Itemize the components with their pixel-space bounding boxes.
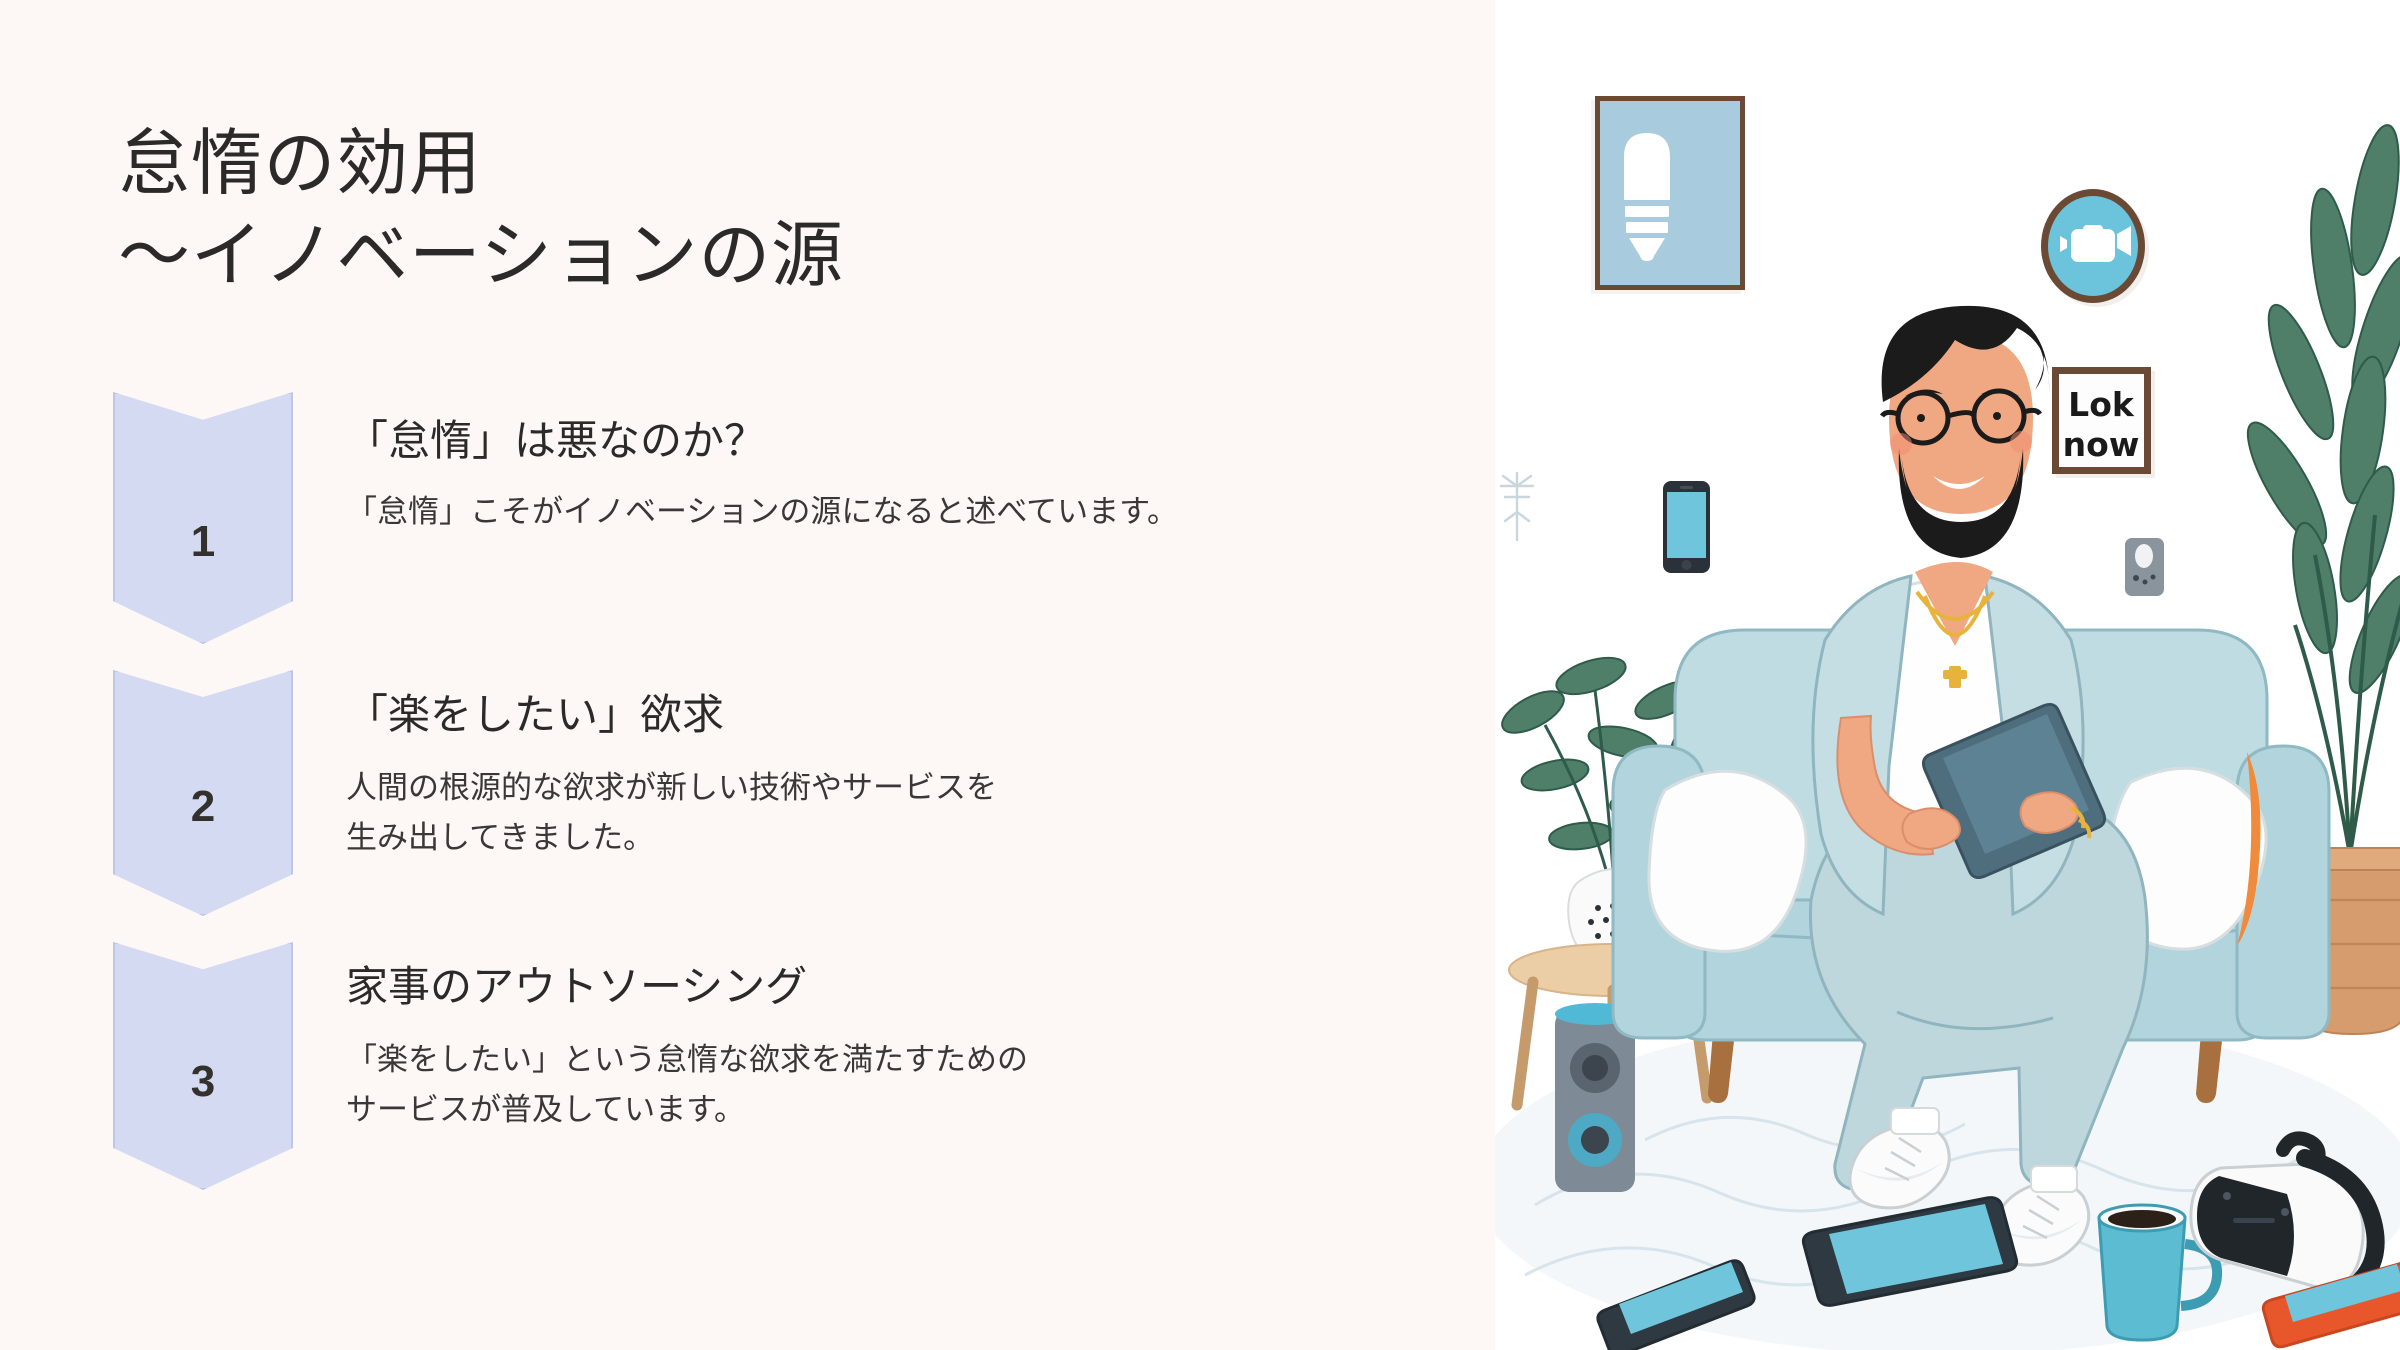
step-body-line: 生み出してきました。 — [346, 813, 1426, 863]
handwritten-note: Lok now — [2052, 367, 2155, 478]
steps-list: 1 「怠惰」は悪なのか？ 「怠惰」こそがイノベーションの源になると述べています。… — [0, 392, 1495, 1214]
step-number-2: 2 — [113, 785, 293, 829]
step-heading-1: 「怠惰」は悪なのか？ — [346, 414, 1426, 469]
slide: 怠惰の効用 〜イノベーションの源 1 「怠惰」は悪なのか？ 「怠惰」こそがイノベ… — [0, 0, 2400, 1350]
step-text-3: 家事のアウトソーシング 「楽をしたい」という怠惰な欲求を満たすための サービスが… — [346, 960, 1426, 1135]
step-body-line: 人間の根源的な欲求が新しい技術やサービスを — [346, 763, 1426, 813]
list-item: 1 「怠惰」は悪なのか？ 「怠惰」こそがイノベーションの源になると述べています。 — [0, 392, 1495, 670]
list-item: 3 家事のアウトソーシング 「楽をしたい」という怠惰な欲求を満たすための サービ… — [0, 942, 1495, 1214]
note-line-2: now — [2063, 425, 2140, 464]
step-number-3: 3 — [113, 1060, 293, 1104]
left-content-panel: 怠惰の効用 〜イノベーションの源 1 「怠惰」は悪なのか？ 「怠惰」こそがイノベ… — [0, 0, 1495, 1350]
living-room-illustration: Lok now — [1495, 0, 2400, 1350]
wall-sensor — [2125, 538, 2164, 596]
hand-left — [1902, 808, 1959, 849]
title-line-1: 怠惰の効用 — [118, 118, 1318, 210]
note-line-1: Lok — [2068, 385, 2135, 424]
step-body-line: 「楽をしたい」という怠惰な欲求を満たすための — [346, 1035, 1426, 1085]
framed-lightbulb-poster — [1591, 96, 1745, 294]
step-text-1: 「怠惰」は悪なのか？ 「怠惰」こそがイノベーションの源になると述べています。 — [346, 414, 1426, 537]
list-item: 2 「楽をしたい」欲求 人間の根源的な欲求が新しい技術やサービスを 生み出してき… — [0, 670, 1495, 942]
hand-right — [2020, 792, 2077, 833]
step-body-3: 「楽をしたい」という怠惰な欲求を満たすための サービスが普及しています。 — [346, 1035, 1426, 1135]
step-body-2: 人間の根源的な欲求が新しい技術やサービスを 生み出してきました。 — [346, 763, 1426, 863]
step-body-line: サービスが普及しています。 — [346, 1085, 1426, 1135]
title-line-2: 〜イノベーションの源 — [118, 210, 1318, 302]
step-number-1: 1 — [113, 520, 293, 564]
page-title: 怠惰の効用 〜イノベーションの源 — [118, 118, 1318, 302]
step-body-line: 「怠惰」こそがイノベーションの源になると述べています。 — [346, 487, 1426, 537]
wall-phone — [1663, 481, 1710, 573]
step-body-1: 「怠惰」こそがイノベーションの源になると述べています。 — [346, 487, 1426, 537]
step-heading-3: 家事のアウトソーシング — [346, 960, 1426, 1015]
step-heading-2: 「楽をしたい」欲求 — [346, 688, 1426, 743]
illustration-panel: Lok now — [1495, 0, 2400, 1350]
step-text-2: 「楽をしたい」欲求 人間の根源的な欲求が新しい技術やサービスを 生み出してきまし… — [346, 688, 1426, 863]
